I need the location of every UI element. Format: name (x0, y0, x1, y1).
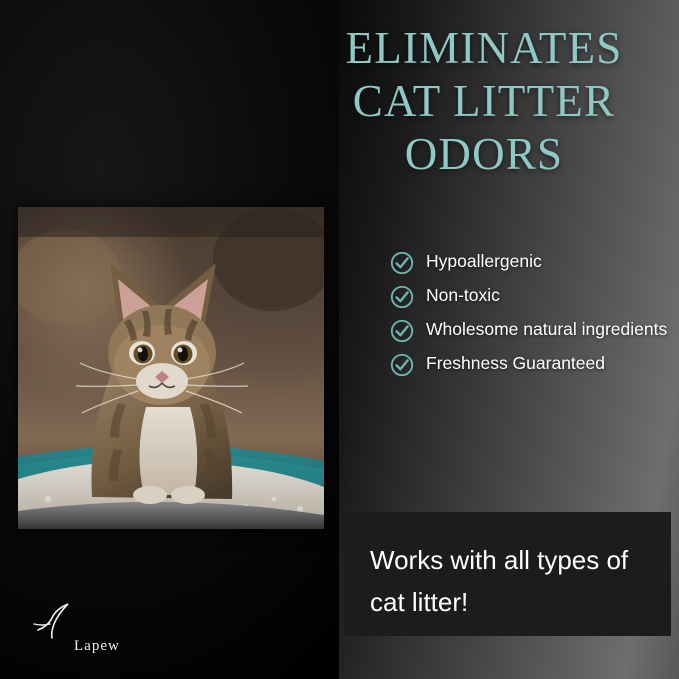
check-circle-icon (390, 251, 414, 275)
feature-list: Hypoallergenic Non-toxic Wholesome natur… (390, 250, 668, 386)
check-circle-icon (390, 285, 414, 309)
check-circle-icon (390, 319, 414, 343)
check-circle-icon (390, 353, 414, 377)
feature-item: Wholesome natural ingredients (390, 318, 668, 343)
feature-label: Non-toxic (426, 284, 500, 307)
feature-item: Freshness Guaranteed (390, 352, 668, 377)
headline-line-2: CAT LITTER (300, 75, 668, 128)
headline-line-1: ELIMINATES (300, 22, 668, 75)
cat-photo (18, 207, 324, 529)
ad-banner: ELIMINATES CAT LITTER ODORS (0, 0, 679, 679)
feature-label: Freshness Guaranteed (426, 352, 605, 375)
brand-name: Lapew (74, 638, 120, 655)
headline-line-3: ODORS (300, 128, 668, 181)
feature-item: Non-toxic (390, 284, 668, 309)
feature-label: Hypoallergenic (426, 250, 542, 273)
headline: ELIMINATES CAT LITTER ODORS (300, 22, 668, 181)
feature-label: Wholesome natural ingredients (426, 318, 667, 341)
brand-logo: Lapew (32, 600, 162, 662)
callout-text: Works with all types of cat litter! (370, 539, 658, 623)
feature-item: Hypoallergenic (390, 250, 668, 275)
callout-box: Works with all types of cat litter! (344, 512, 671, 636)
